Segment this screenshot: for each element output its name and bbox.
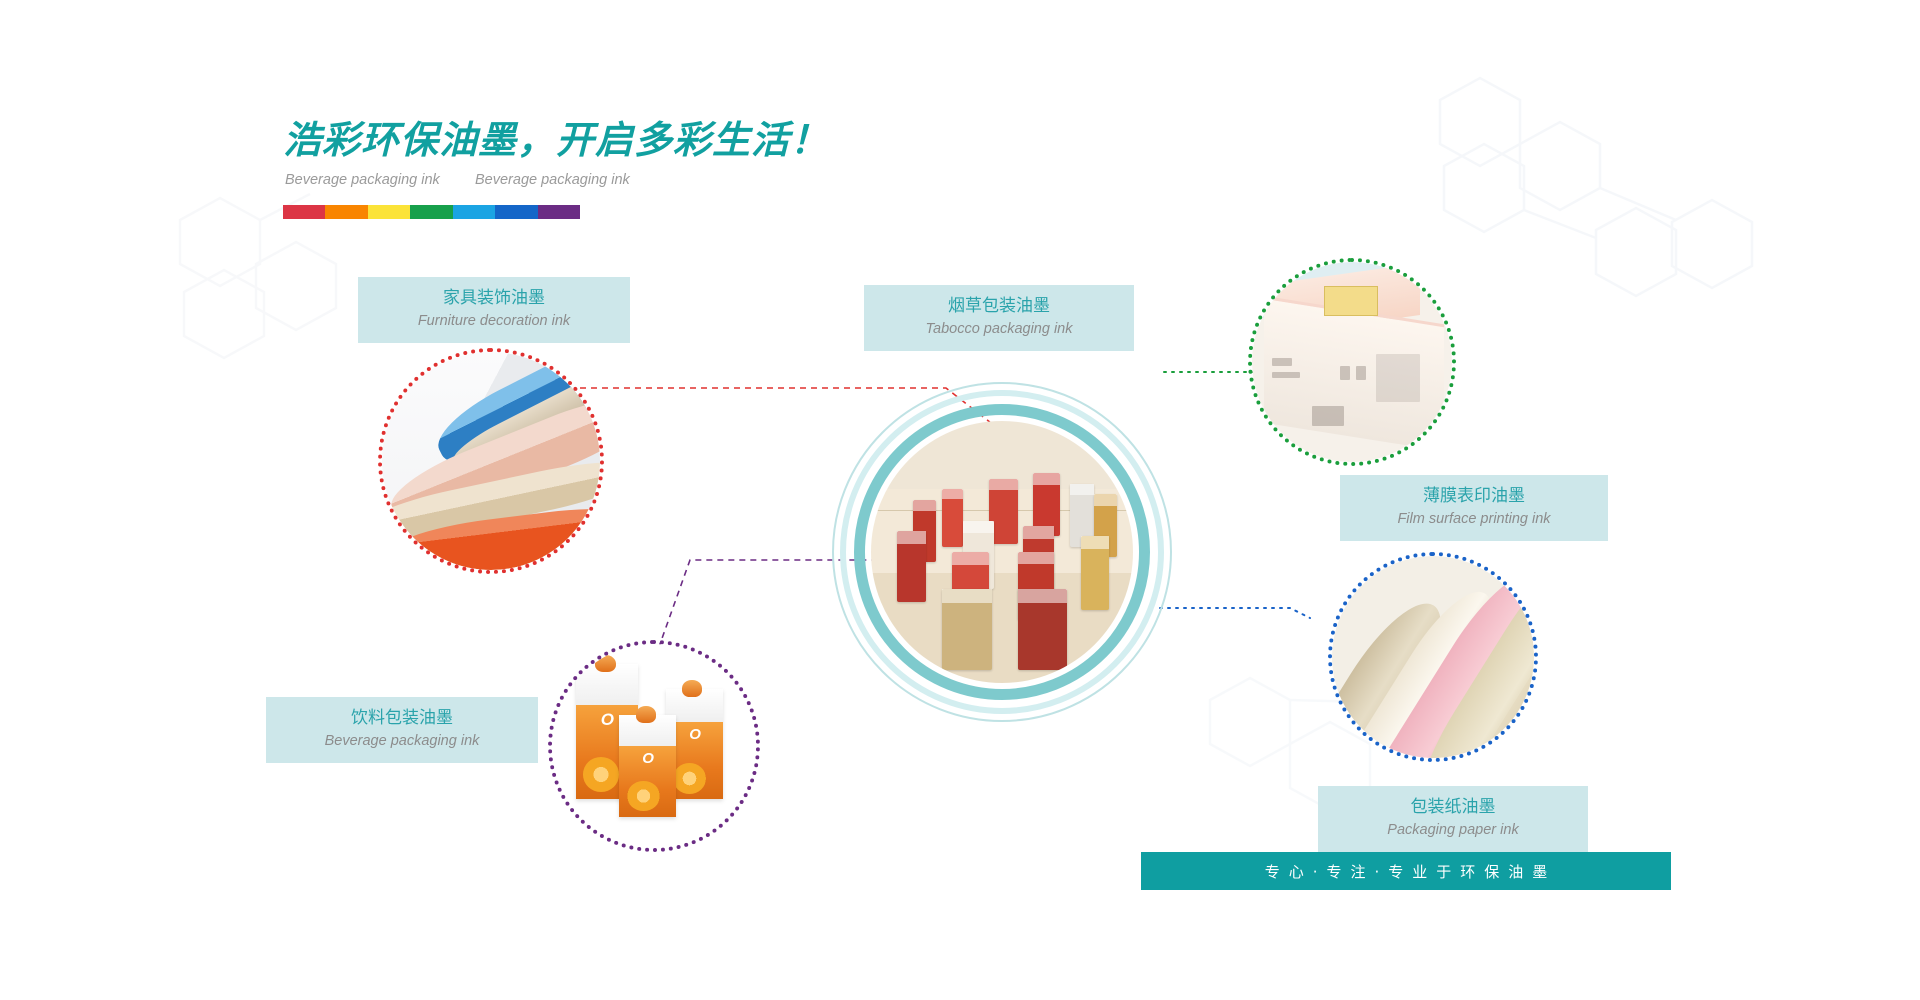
label-plate-paper[interactable]: 包装纸油墨 Packaging paper ink [1318, 786, 1588, 852]
swatch-lightblue [453, 205, 495, 219]
label-plate-furniture[interactable]: 家具装饰油墨 Furniture decoration ink [358, 277, 630, 343]
label-beverage-cn: 饮料包装油墨 [266, 706, 538, 731]
circle-paper-dotted-border [1328, 552, 1538, 762]
swatch-green [410, 205, 452, 219]
infographic-canvas: 浩彩环保油墨，开启多彩生活！ Beverage packaging ink Be… [0, 0, 1920, 1000]
color-swatch-bar [283, 205, 580, 219]
molecule-watermark-icon [1400, 70, 1780, 340]
label-plate-beverage[interactable]: 饮料包装油墨 Beverage packaging ink [266, 697, 538, 763]
circle-furniture-dotted-border [378, 348, 604, 574]
label-tobacco-en: Tabocco packaging ink [864, 319, 1134, 341]
header-block: 浩彩环保油墨，开启多彩生活！ Beverage packaging ink Be… [283, 120, 903, 196]
label-furniture-en: Furniture decoration ink [358, 311, 630, 333]
label-paper-cn: 包装纸油墨 [1318, 795, 1588, 820]
circle-beverage-dotted-border [548, 640, 760, 852]
tobacco-packaging-photo[interactable] [871, 421, 1133, 683]
label-paper-en: Packaging paper ink [1318, 820, 1588, 842]
label-tobacco-cn: 烟草包装油墨 [864, 294, 1134, 319]
circle-film-dotted-border [1248, 258, 1456, 466]
swatch-blue [495, 205, 537, 219]
label-beverage-en: Beverage packaging ink [266, 731, 538, 753]
label-film-en: Film surface printing ink [1340, 509, 1608, 531]
label-furniture-cn: 家具装饰油墨 [358, 286, 630, 311]
label-plate-tobacco[interactable]: 烟草包装油墨 Tabocco packaging ink [864, 285, 1134, 351]
connector-paper [1160, 608, 1310, 618]
subtitle-left: Beverage packaging ink [285, 172, 440, 188]
subtitle-row: Beverage packaging ink Beverage packagin… [283, 172, 903, 196]
swatch-red [283, 205, 325, 219]
tagline-banner: 专心·专注·专业于环保油墨 [1141, 852, 1671, 890]
subtitle-right: Beverage packaging ink [475, 172, 630, 188]
label-film-cn: 薄膜表印油墨 [1340, 484, 1608, 509]
swatch-orange [325, 205, 367, 219]
page-title: 浩彩环保油墨，开启多彩生活！ [283, 120, 903, 162]
label-plate-film[interactable]: 薄膜表印油墨 Film surface printing ink [1340, 475, 1608, 541]
swatch-yellow [368, 205, 410, 219]
swatch-purple [538, 205, 580, 219]
